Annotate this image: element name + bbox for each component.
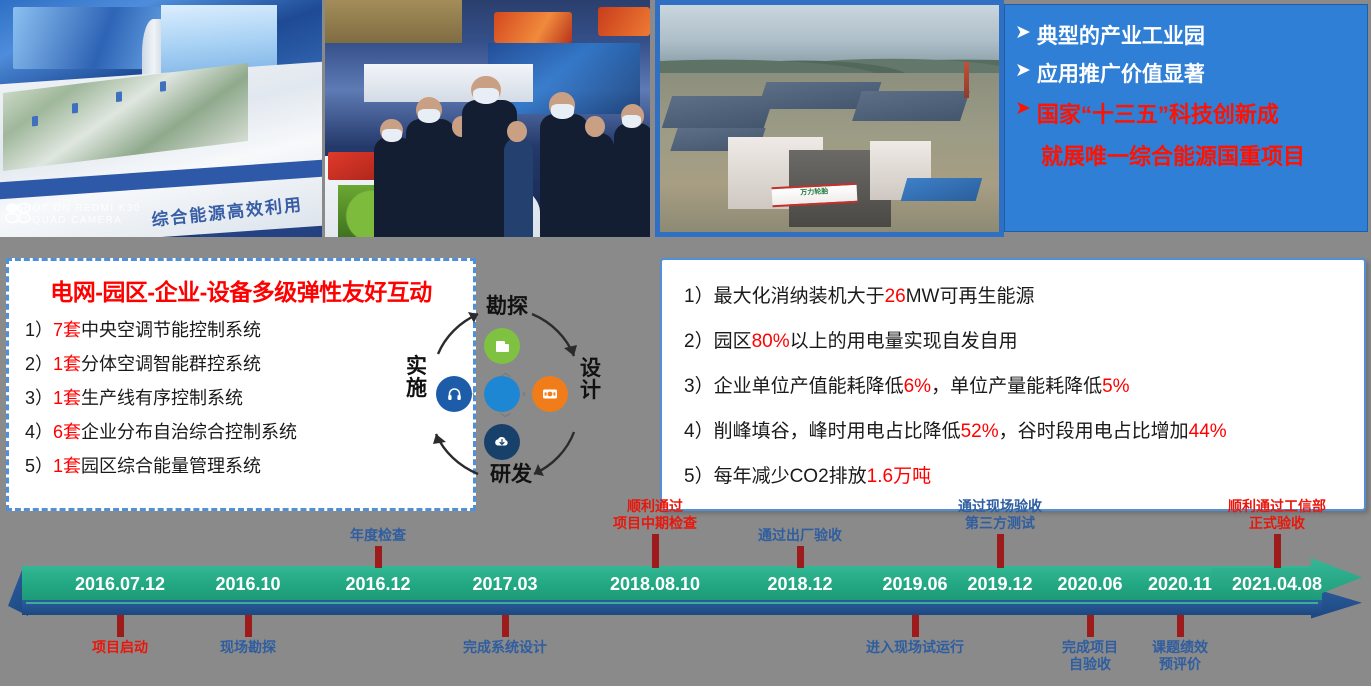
- item-part: 企业单位产值能耗降低: [714, 376, 904, 397]
- callout-item-3-text: 国家“十三五”科技创新成: [1037, 99, 1279, 130]
- timeline-label-line: 通过现场验收: [958, 498, 1042, 515]
- item-highlight: 6%: [904, 376, 931, 397]
- timeline-label-line: 完成系统设计: [463, 639, 547, 656]
- timeline-label-line: 顺利通过: [613, 498, 697, 515]
- chevron-down-icon: ﹀: [500, 410, 511, 426]
- callout-item-3: ➤ 国家“十三五”科技创新成: [1015, 99, 1357, 130]
- item-number: 4）: [25, 422, 53, 442]
- timeline-stem: [1087, 615, 1094, 637]
- photo-leaders-visiting: [325, 0, 650, 237]
- item-number: 1）: [684, 286, 714, 307]
- item-text: 分体空调智能群控系统: [81, 354, 261, 374]
- timeline-label-line: 项目启动: [92, 639, 148, 656]
- item-number: 5）: [25, 456, 53, 476]
- survey-node-icon: [484, 328, 520, 364]
- exhibit-counter: [364, 64, 533, 102]
- center-node-icon: [484, 376, 520, 412]
- item-part: 削峰填谷，峰时用电占比降低: [714, 421, 961, 442]
- item-count: 7套: [53, 320, 81, 340]
- chevron-up-icon: ︿: [500, 364, 511, 380]
- factory-banner-text: 万力轮胎: [772, 185, 857, 200]
- callout-item-2: ➤ 应用推广价值显著: [1015, 61, 1357, 88]
- watermark-line-2: AI QUAD CAMERA: [16, 215, 141, 227]
- item-text: 生产线有序控制系统: [81, 388, 243, 408]
- list-item: 2）园区80%以上的用电量实现自发自用: [684, 319, 1364, 364]
- list-item: 1）最大化消纳装机大于26MW可再生能源: [684, 274, 1364, 319]
- item-number: 2）: [684, 331, 714, 352]
- item-text: 园区综合能量管理系统: [81, 456, 261, 476]
- photo-exhibition-booth: 综合能源高效利用 SHOT ON REDMI K30 AI QUAD CAMER…: [0, 0, 322, 237]
- cycle-label-survey: 勘探: [486, 296, 528, 318]
- solar-roof-1: [662, 96, 774, 128]
- item-count: 6套: [53, 422, 81, 442]
- item-number: 2）: [25, 354, 53, 374]
- timeline-stem: [797, 546, 804, 568]
- timeline-date: 2017.03: [472, 574, 537, 595]
- headset-node-icon: [436, 376, 472, 412]
- chevron-right-icon: ›: [522, 388, 526, 400]
- camera-watermark: SHOT ON REDMI K30 AI QUAD CAMERA: [16, 203, 141, 227]
- timeline-label: 通过现场验收第三方测试: [958, 498, 1042, 532]
- timeline-stem: [502, 615, 509, 637]
- panel-performance-metrics: 1）最大化消纳装机大于26MW可再生能源 2）园区80%以上的用电量实现自发自用…: [660, 258, 1366, 511]
- device-node-icon: [532, 376, 568, 412]
- item-part: 以上的用电量实现自发自用: [790, 331, 1018, 352]
- item-count: 1套: [53, 456, 81, 476]
- item-number: 3）: [684, 376, 714, 397]
- timeline-date: 2016.12: [345, 574, 410, 595]
- arrow-bullet-icon: ➤: [1015, 61, 1031, 80]
- item-highlight: 80%: [752, 331, 790, 352]
- timeline-label: 现场勘探: [220, 639, 276, 656]
- slide-canvas: 综合能源高效利用 SHOT ON REDMI K30 AI QUAD CAMER…: [0, 0, 1371, 686]
- timeline-label: 通过出厂验收: [758, 527, 842, 544]
- item-count: 1套: [53, 388, 81, 408]
- list-item: 5）每年减少CO2排放1.6万吨: [684, 454, 1364, 499]
- panel-right-list: 1）最大化消纳装机大于26MW可再生能源 2）园区80%以上的用电量实现自发自用…: [662, 274, 1364, 499]
- factory-banner: 万力轮胎: [771, 183, 857, 207]
- cycle-label-implement: 实施: [406, 356, 428, 400]
- timeline-date: 2021.04.08: [1232, 574, 1322, 595]
- visitor-7-head: [585, 116, 605, 137]
- item-highlight: 26: [885, 286, 906, 307]
- item-highlight: 1.6万吨: [867, 466, 931, 487]
- item-part: 园区: [714, 331, 752, 352]
- timeline-label: 顺利通过工信部正式验收: [1228, 498, 1326, 532]
- blue-roof-warehouse: [901, 178, 982, 201]
- process-cycle-diagram: 勘探 设计 研发 实施 ︿ ﹀ ‹ ›: [398, 298, 610, 498]
- timeline-stem: [1177, 615, 1184, 637]
- timeline-bar-divider: [26, 602, 1318, 604]
- visitor-2: [406, 119, 455, 238]
- timeline-label: 完成项目自验收: [1062, 639, 1118, 673]
- timeline-date: 2018.08.10: [610, 574, 700, 595]
- item-text: 企业分布自治综合控制系统: [81, 422, 297, 442]
- timeline-stem: [1274, 534, 1281, 568]
- visitor-5: [504, 137, 533, 237]
- item-highlight: 44%: [1189, 421, 1227, 442]
- booth-screens: [13, 7, 161, 69]
- timeline-date: 2019.06: [882, 574, 947, 595]
- timeline-label-line: 进入现场试运行: [866, 639, 964, 656]
- timeline-label-line: 预评价: [1152, 656, 1208, 673]
- item-part: 每年减少CO2排放: [714, 466, 867, 487]
- item-part: ，单位产量能耗降低: [931, 376, 1102, 397]
- item-number: 5）: [684, 466, 714, 487]
- callout-item-4: 就展唯一综合能源国重项目: [1015, 141, 1357, 172]
- timeline-date: 2016.07.12: [75, 574, 165, 595]
- timeline-date: 2018.12: [767, 574, 832, 595]
- timeline-label: 完成系统设计: [463, 639, 547, 656]
- watermark-line-1: SHOT ON REDMI K30: [16, 203, 141, 215]
- visitor-6: [540, 114, 589, 237]
- timeline-label-line: 完成项目: [1062, 639, 1118, 656]
- timeline-stem: [375, 546, 382, 568]
- item-part: MW可再生能源: [906, 286, 1035, 307]
- timeline-stem: [912, 615, 919, 637]
- solar-roof-3: [852, 91, 970, 121]
- timeline-label-line: 第三方测试: [958, 515, 1042, 532]
- timeline-label-line: 自验收: [1062, 656, 1118, 673]
- visitor-1-mask: [382, 129, 402, 142]
- timeline-stem: [997, 534, 1004, 568]
- timeline-label-line: 正式验收: [1228, 515, 1326, 532]
- item-highlight: 5%: [1102, 376, 1129, 397]
- project-timeline: 2016.07.12项目启动2016.10现场勘探2016.12年度检查2017…: [0, 516, 1371, 686]
- timeline-label-line: 课题绩效: [1152, 639, 1208, 656]
- list-item: 3）企业单位产值能耗降低6%，单位产量能耗降低5%: [684, 364, 1364, 409]
- hall-gold-ceiling: [325, 0, 462, 43]
- timeline-label-line: 通过出厂验收: [758, 527, 842, 544]
- timeline-label: 顺利通过项目中期检查: [613, 498, 697, 532]
- cycle-label-rnd: 研发: [490, 464, 532, 486]
- item-number: 4）: [684, 421, 714, 442]
- timeline-label: 年度检查: [350, 527, 406, 544]
- cycle-label-design: 设计: [580, 358, 602, 402]
- timeline-label-line: 年度检查: [350, 527, 406, 544]
- callout-item-4-text: 就展唯一综合能源国重项目: [1041, 141, 1305, 172]
- visitor-8: [614, 123, 650, 237]
- timeline-label-line: 项目中期检查: [613, 515, 697, 532]
- cloud-node-icon: [484, 424, 520, 460]
- highlights-callout-box: ➤ 典型的产业工业园 ➤ 应用推广价值显著 ➤ 国家“十三五”科技创新成 就展唯…: [1004, 4, 1368, 232]
- timeline-date: 2016.10: [215, 574, 280, 595]
- timeline-label: 项目启动: [92, 639, 148, 656]
- item-number: 1）: [25, 320, 53, 340]
- timeline-label-line: 现场勘探: [220, 639, 276, 656]
- visitor-7: [582, 133, 615, 237]
- arrow-bullet-icon: ➤: [1015, 23, 1031, 42]
- visitor-5-head: [507, 121, 527, 142]
- red-led-screen-2: [598, 7, 650, 35]
- item-part: ，谷时段用电占比增加: [999, 421, 1189, 442]
- callout-item-1-text: 典型的产业工业园: [1037, 23, 1205, 50]
- item-count: 1套: [53, 354, 81, 374]
- item-number: 3）: [25, 388, 53, 408]
- timeline-label: 进入现场试运行: [866, 639, 964, 656]
- chevron-left-icon: ‹: [472, 388, 476, 400]
- callout-item-2-text: 应用推广价值显著: [1037, 61, 1205, 88]
- timeline-date: 2020.11: [1148, 574, 1212, 595]
- timeline-stem: [652, 534, 659, 568]
- item-highlight: 52%: [961, 421, 999, 442]
- visitor-6-mask: [551, 104, 574, 118]
- chimney-stack: [964, 62, 969, 98]
- timeline-label-line: 顺利通过工信部: [1228, 498, 1326, 515]
- visitor-8-mask: [622, 115, 642, 128]
- callout-item-1: ➤ 典型的产业工业园: [1015, 23, 1357, 50]
- photo-aerial-industrial-park: 万力轮胎: [655, 0, 1004, 237]
- item-text: 中央空调节能控制系统: [81, 320, 261, 340]
- timeline-stem: [117, 615, 124, 637]
- list-item: 4）削峰填谷，峰时用电占比降低52%，谷时段用电占比增加44%: [684, 409, 1364, 454]
- red-led-screen-1: [494, 12, 572, 43]
- arrow-bullet-icon: ➤: [1015, 99, 1031, 118]
- timeline-label: 课题绩效预评价: [1152, 639, 1208, 673]
- timeline-stem: [245, 615, 252, 637]
- timeline-date: 2019.12: [967, 574, 1032, 595]
- item-part: 最大化消纳装机大于: [714, 286, 885, 307]
- timeline-date: 2020.06: [1057, 574, 1122, 595]
